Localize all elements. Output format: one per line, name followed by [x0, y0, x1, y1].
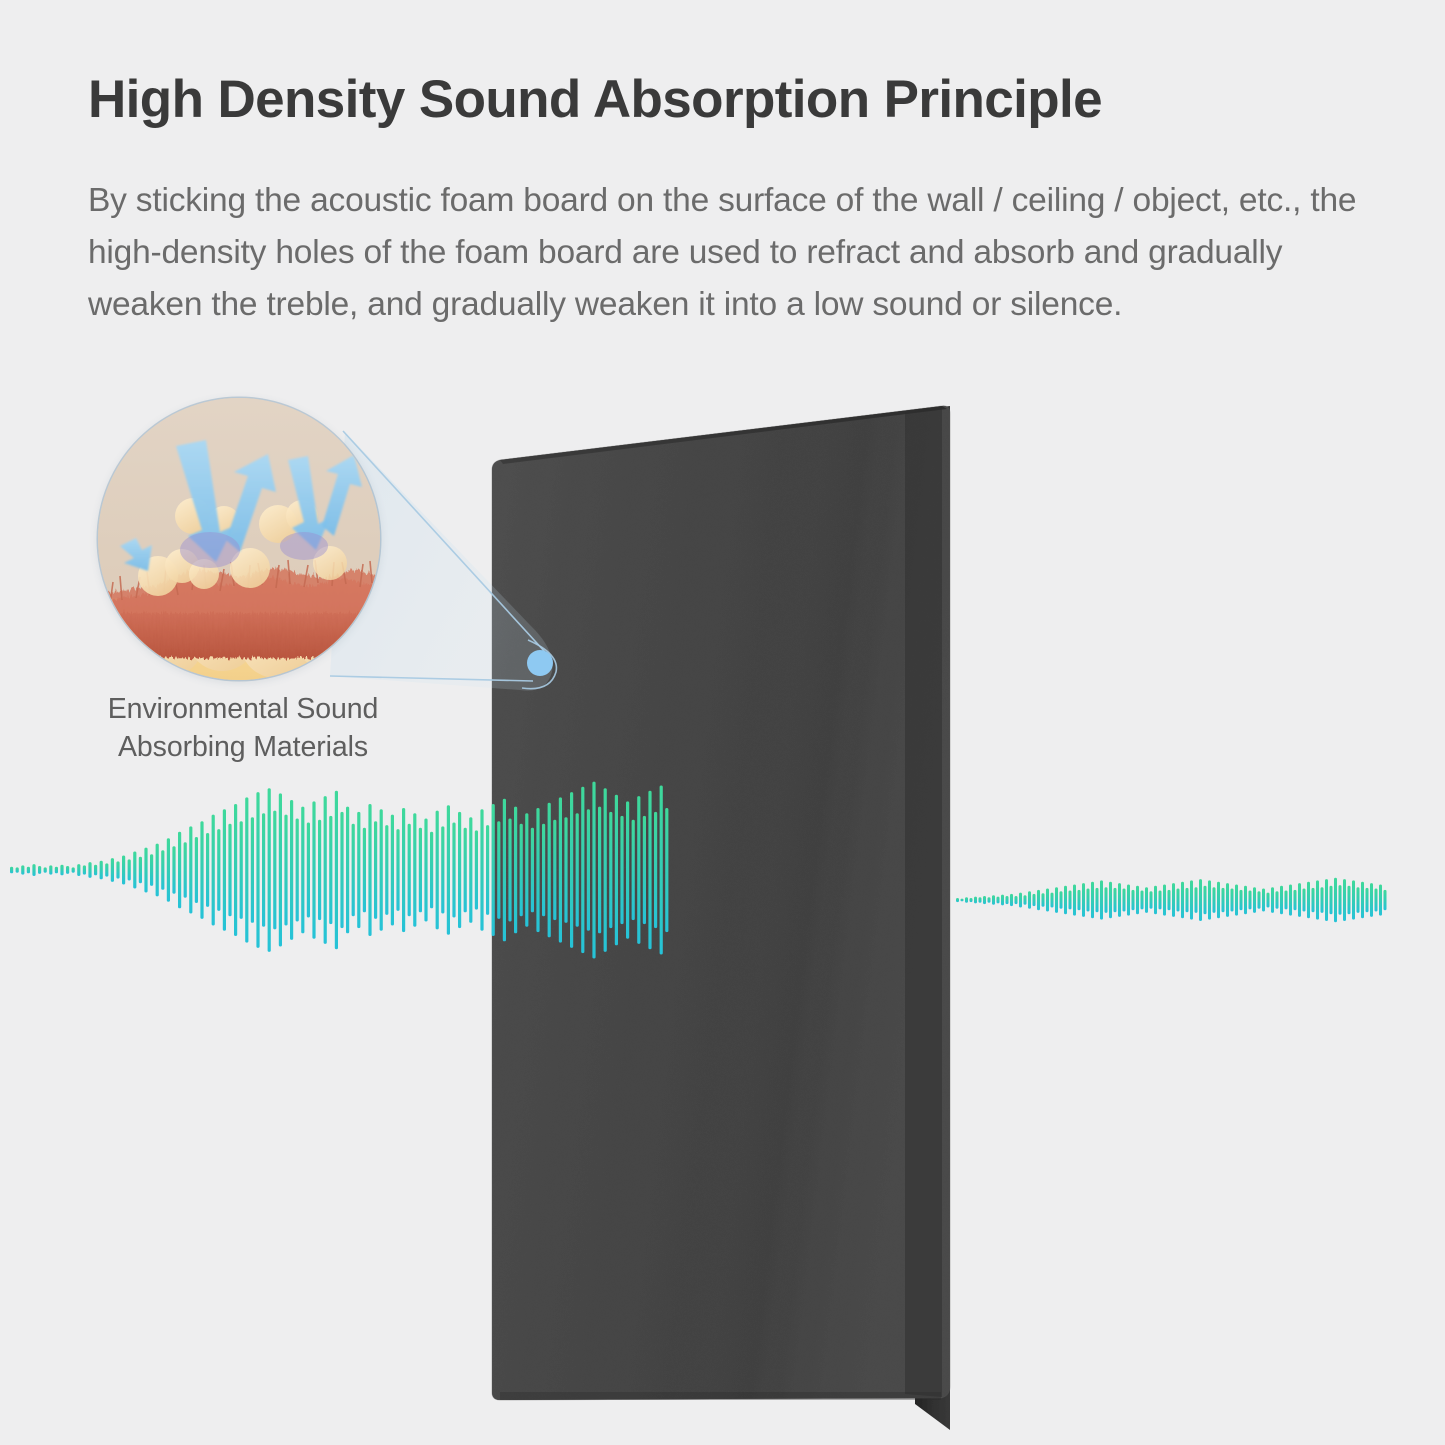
inset-caption-line1: Environmental Sound — [108, 693, 379, 725]
waveform-bar — [1168, 890, 1171, 910]
waveform-bar — [1384, 890, 1387, 910]
waveform-bar — [1105, 887, 1108, 913]
waveform-bar — [1181, 882, 1184, 919]
waveform-bar — [279, 793, 282, 946]
waveform-bar — [1060, 891, 1063, 909]
waveform-bar — [458, 812, 461, 928]
waveform-bar — [1123, 889, 1126, 912]
waveform-bar — [1051, 893, 1054, 908]
waveform-bar — [1222, 888, 1225, 912]
waveform-bar — [1294, 890, 1297, 910]
waveform-bar — [542, 824, 545, 916]
callout-dot — [527, 650, 553, 676]
waveform-bar — [66, 866, 69, 874]
waveform-bar — [1073, 885, 1076, 916]
waveform-bar — [436, 811, 439, 930]
waveform-bar — [632, 820, 635, 920]
waveform-bar — [1069, 891, 1072, 910]
waveform-bar — [648, 791, 651, 949]
waveform-bar — [1307, 882, 1310, 919]
waveform-bar — [1037, 890, 1040, 910]
waveform-bar — [1303, 889, 1306, 912]
waveform-bar — [1042, 893, 1045, 907]
waveform-bar — [262, 813, 265, 927]
waveform-bar — [570, 792, 573, 948]
waveform-bar — [1199, 879, 1202, 921]
attenuated-sound-waveform — [952, 845, 1422, 955]
infographic-root: High Density Sound Absorption Principle … — [0, 0, 1445, 1445]
waveform-bar — [27, 867, 30, 874]
waveform-bar — [368, 804, 371, 936]
waveform-bar — [128, 859, 131, 880]
waveform-bar — [1010, 894, 1013, 906]
waveform-bar — [1217, 882, 1220, 919]
waveform-bar — [1316, 880, 1319, 919]
waveform-bar — [240, 821, 243, 919]
waveform-bar — [161, 850, 164, 890]
waveform-bar — [486, 825, 489, 915]
waveform-bar — [1163, 885, 1166, 916]
waveform-bar — [1334, 878, 1337, 923]
waveform-bar — [520, 824, 523, 916]
waveform-bar — [464, 828, 467, 913]
waveform-bar — [1055, 887, 1058, 913]
waveform-bar — [1082, 883, 1085, 917]
waveform-bar — [604, 788, 607, 952]
waveform-bar — [268, 788, 271, 952]
waveform-bar — [1186, 888, 1189, 912]
waveform-bar — [1177, 889, 1180, 912]
waveform-bar — [83, 865, 86, 874]
waveform-bar — [514, 807, 517, 934]
waveform-bar — [1298, 883, 1301, 917]
waveform-bar — [111, 858, 114, 882]
waveform-bar — [1109, 882, 1112, 919]
waveform-bar — [559, 797, 562, 942]
waveform-bar — [396, 829, 399, 911]
waveform-bar — [1325, 879, 1328, 921]
waveform-bar — [581, 787, 584, 953]
waveform-bar — [988, 897, 991, 902]
waveform-bar — [1231, 889, 1234, 912]
waveform-bar — [480, 809, 483, 930]
waveform-bar — [72, 867, 75, 872]
waveform-bar — [1289, 885, 1292, 916]
waveform-bar — [626, 801, 629, 938]
waveform-bar — [1078, 890, 1081, 910]
waveform-bar — [475, 830, 478, 909]
waveform-bar — [1258, 891, 1261, 909]
waveform-bar — [1033, 894, 1036, 906]
waveform-bar — [200, 821, 203, 919]
waveform-bar — [363, 828, 366, 913]
waveform-bar — [329, 816, 332, 924]
waveform-bar — [156, 844, 159, 897]
waveform-bar — [1091, 882, 1094, 919]
waveform-bar — [49, 865, 52, 874]
waveform-bar — [144, 848, 147, 893]
waveform-bar — [184, 842, 187, 897]
waveform-bar — [441, 826, 444, 913]
waveform-bar — [424, 819, 427, 922]
magnified-material-inset — [98, 398, 380, 680]
waveform-bar — [1226, 883, 1229, 917]
waveform-bar — [1267, 893, 1270, 908]
waveform-bar — [318, 820, 321, 920]
waveform-bar — [970, 898, 973, 902]
waveform-bar — [38, 866, 41, 874]
waveform-bar — [419, 828, 422, 913]
waveform-bar — [380, 809, 383, 930]
waveform-bar — [1087, 889, 1090, 912]
waveform-bar — [643, 816, 646, 924]
waveform-bar — [1244, 886, 1247, 914]
waveform-bar — [1271, 887, 1274, 913]
waveform-bar — [150, 854, 153, 886]
waveform-bar — [620, 816, 623, 924]
waveform-bar — [167, 838, 170, 901]
waveform-bar — [1145, 887, 1148, 913]
waveform-bar — [1204, 886, 1207, 914]
waveform-bar — [1172, 883, 1175, 917]
waveform-bar — [592, 782, 595, 959]
waveform-bar — [1379, 885, 1382, 916]
waveform-bar — [956, 898, 959, 902]
waveform-bar — [77, 864, 80, 876]
inset-caption: Environmental Sound Absorbing Materials — [78, 690, 408, 767]
waveform-bar — [357, 812, 360, 928]
waveform-bar — [1276, 891, 1279, 909]
waveform-bar — [1001, 895, 1004, 906]
waveform-bar — [402, 808, 405, 932]
waveform-bar — [1262, 889, 1265, 912]
waveform-bar — [497, 821, 500, 919]
waveform-bar — [1348, 886, 1351, 914]
waveform-bar — [1285, 891, 1288, 910]
waveform-bar — [16, 867, 19, 872]
waveform-bar — [1006, 896, 1009, 904]
waveform-bar — [1208, 880, 1211, 919]
waveform-bar — [531, 828, 534, 913]
waveform-bar — [553, 820, 556, 920]
waveform-bar — [548, 803, 551, 938]
waveform-bar — [116, 861, 119, 878]
waveform-bar — [637, 796, 640, 944]
waveform-bar — [1127, 885, 1130, 916]
waveform-bar — [469, 817, 472, 923]
waveform-bar — [189, 826, 192, 913]
waveform-bar — [1159, 891, 1162, 910]
waveform-bar — [217, 829, 220, 911]
waveform-bar — [430, 832, 433, 909]
waveform-bar — [100, 861, 103, 880]
waveform-bar — [1046, 889, 1049, 912]
waveform-bar — [335, 791, 338, 949]
waveform-bar — [178, 832, 181, 909]
waveform-bar — [55, 867, 58, 874]
waveform-bar — [587, 809, 590, 930]
waveform-bar — [979, 897, 982, 902]
waveform-bar — [228, 824, 231, 916]
waveform-bar — [1100, 880, 1103, 919]
waveform-bar — [1019, 893, 1022, 908]
waveform-bar — [1343, 879, 1346, 921]
waveform-bar — [21, 865, 24, 874]
waveform-bar — [1136, 886, 1139, 914]
waveform-bar — [413, 813, 416, 927]
waveform-bar — [195, 837, 198, 903]
waveform-bar — [1375, 889, 1378, 912]
waveform-bar — [974, 897, 977, 904]
waveform-bar — [1118, 883, 1121, 917]
waveform-bar — [654, 812, 657, 928]
waveform-bar — [391, 815, 394, 926]
waveform-bar — [251, 817, 254, 923]
waveform-bar — [1253, 887, 1256, 913]
waveform-bar — [1024, 895, 1027, 905]
waveform-bar — [256, 792, 259, 948]
waveform-bar — [1312, 888, 1315, 912]
waveform-bar — [374, 821, 377, 919]
waveform-bar — [307, 823, 310, 918]
waveform-bar — [133, 852, 136, 889]
waveform-bar — [385, 825, 388, 915]
waveform-bar — [1370, 883, 1373, 917]
waveform-bar — [1141, 891, 1144, 910]
waveform-bar — [245, 797, 248, 942]
waveform-bar — [609, 812, 612, 928]
waveform-bar — [1235, 885, 1238, 916]
waveform-bar — [997, 897, 1000, 904]
waveform-bar — [1150, 891, 1153, 909]
waveform-bar — [1366, 888, 1369, 912]
waveform-bar — [206, 833, 209, 907]
waveform-bar — [1190, 880, 1193, 919]
incident-sound-waveform — [0, 770, 700, 970]
waveform-bar — [94, 865, 97, 876]
waveform-bar — [1132, 890, 1135, 910]
waveform-bar — [139, 857, 142, 883]
waveform-bar — [508, 819, 511, 922]
waveform-bar — [992, 895, 995, 905]
inset-caption-line2: Absorbing Materials — [118, 731, 368, 763]
waveform-bar — [324, 796, 327, 944]
waveform-bar — [88, 862, 91, 878]
waveform-bar — [598, 807, 601, 934]
waveform-bar — [273, 811, 276, 930]
waveform-bar — [352, 824, 355, 916]
waveform-bar — [1015, 896, 1018, 904]
waveform-bar — [1357, 887, 1360, 913]
waveform-bar — [105, 863, 108, 876]
waveform-bar — [312, 801, 315, 938]
waveform-bar — [44, 867, 47, 872]
waveform-bar — [1321, 887, 1324, 913]
waveform-bar — [212, 815, 215, 926]
waveform-bar — [223, 809, 226, 930]
waveform-bar — [525, 813, 528, 927]
waveform-bar — [1339, 885, 1342, 915]
waveform-bar — [965, 897, 968, 902]
waveform-bar — [576, 813, 579, 927]
waveform-bar — [665, 808, 668, 932]
waveform-bar — [1249, 891, 1252, 910]
waveform-bar — [290, 800, 293, 940]
waveform-bar — [536, 808, 539, 932]
waveform-bar — [1280, 886, 1283, 914]
waveform-bar — [1114, 888, 1117, 912]
waveform-bar — [983, 896, 986, 904]
waveform-bar — [172, 846, 175, 894]
waveform-bar — [447, 805, 450, 934]
waveform-bar — [564, 817, 567, 923]
waveform-bar — [1361, 882, 1364, 919]
waveform-bar — [296, 819, 299, 922]
waveform-bar — [1330, 886, 1333, 914]
waveform-bar — [1028, 891, 1031, 909]
waveform-bar — [301, 807, 304, 934]
waveform-bar — [492, 804, 495, 936]
waveform-bar — [1195, 887, 1198, 913]
waveform-bar — [1096, 888, 1099, 912]
waveform-bar — [408, 824, 411, 916]
waveform-bar — [1352, 880, 1355, 919]
waveform-bar — [10, 867, 13, 874]
waveform-bar — [1154, 886, 1157, 914]
waveform-bar — [60, 865, 63, 876]
waveform-bar — [660, 786, 663, 955]
waveform-bar — [1240, 890, 1243, 910]
waveform-bar — [234, 804, 237, 936]
waveform-bar — [340, 812, 343, 928]
waveform-bar — [961, 899, 964, 902]
waveform-bar — [1064, 886, 1067, 914]
waveform-bar — [32, 864, 35, 876]
waveform-bar — [452, 823, 455, 918]
waveform-bar — [615, 795, 618, 946]
waveform-bar — [1213, 887, 1216, 913]
waveform-bar — [284, 815, 287, 926]
waveform-bar — [122, 856, 125, 885]
waveform-bar — [346, 807, 349, 934]
waveform-bar — [503, 799, 506, 942]
